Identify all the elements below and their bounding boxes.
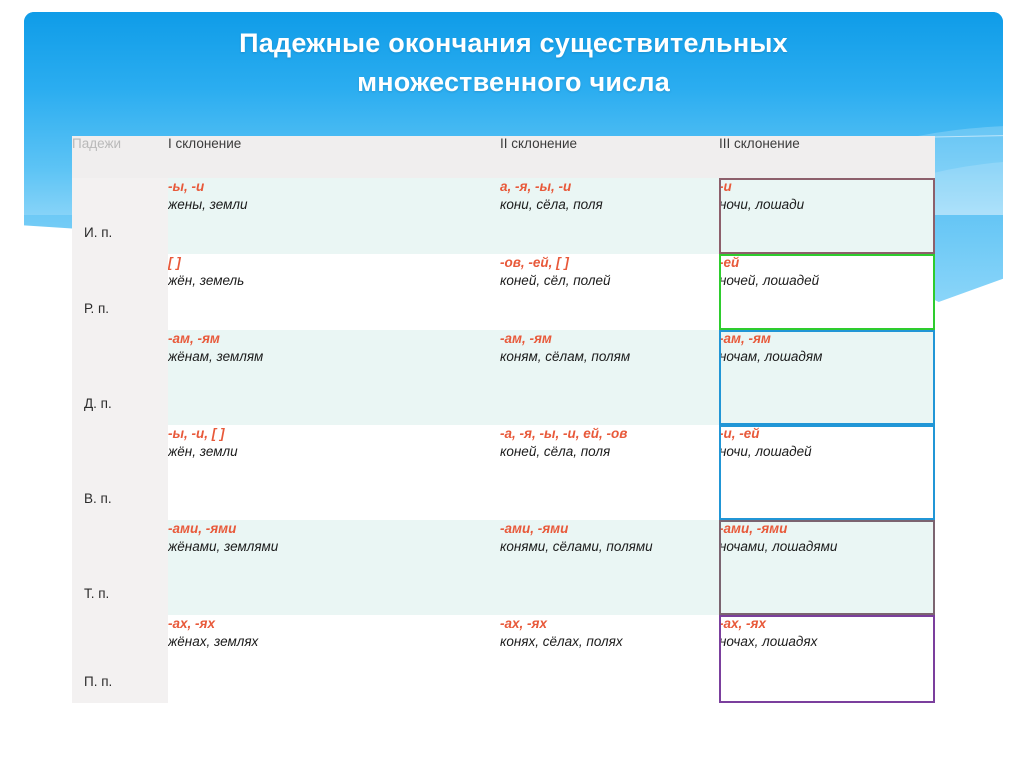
declension-cell: -ы, -ижены, земли <box>168 178 500 254</box>
declension-cell: -ами, -яминочами, лошадями <box>719 520 935 615</box>
ending-text: -ами, -ями <box>168 520 500 537</box>
case-label: В. п. <box>84 491 112 506</box>
example-text: ночи, лошади <box>719 196 935 214</box>
case-label-cell: Д. п. <box>72 330 168 425</box>
example-text: коням, сёлам, полям <box>500 348 719 366</box>
ending-text: -и, -ей <box>719 425 935 442</box>
ending-text: а, -я, -ы, -и <box>500 178 719 195</box>
table-row: П. п.-ах, -яхжёнах, землях-ах, -яхконях,… <box>72 615 935 703</box>
example-text: кони, сёла, поля <box>500 196 719 214</box>
ending-text: -ей <box>719 254 935 271</box>
page-title: Падежные окончания существительных множе… <box>24 24 1003 102</box>
column-header-3: III склонение <box>719 136 935 178</box>
case-label: Р. п. <box>84 301 109 316</box>
ending-text: [ ] <box>168 254 500 271</box>
example-text: конями, сёлами, полями <box>500 538 719 556</box>
example-text: ночи, лошадей <box>719 443 935 461</box>
declension-cell: -ах, -яхконях, сёлах, полях <box>500 615 719 703</box>
column-header-0: Падежи <box>72 136 168 178</box>
ending-text: -ах, -ях <box>719 615 935 632</box>
example-text: конях, сёлах, полях <box>500 633 719 651</box>
ending-text: -а, -я, -ы, -и, ей, -ов <box>500 425 719 442</box>
case-label-cell: П. п. <box>72 615 168 703</box>
declension-cell: -ейночей, лошадей <box>719 254 935 330</box>
case-label-cell: В. п. <box>72 425 168 520</box>
declension-cell: -иночи, лошади <box>719 178 935 254</box>
ending-text: -ам, -ям <box>500 330 719 347</box>
declension-cell: -ами, -ямиконями, сёлами, полями <box>500 520 719 615</box>
example-text: ночей, лошадей <box>719 272 935 290</box>
ending-text: -ам, -ям <box>168 330 500 347</box>
case-label-cell: Р. п. <box>72 254 168 330</box>
ending-text: -и <box>719 178 935 195</box>
example-text: коней, сёл, полей <box>500 272 719 290</box>
declension-cell: -ах, -яхночах, лошадях <box>719 615 935 703</box>
example-text: жён, земель <box>168 272 500 290</box>
declension-cell: -ами, -ямижёнами, землями <box>168 520 500 615</box>
case-label: И. п. <box>84 225 112 240</box>
table-header-row: ПадежиI склонениеII склонениеIII склонен… <box>72 136 935 178</box>
declension-cell: [ ]жён, земель <box>168 254 500 330</box>
ending-text: -ах, -ях <box>168 615 500 632</box>
declension-cell: -и, -ейночи, лошадей <box>719 425 935 520</box>
declension-cell: -ов, -ей, [ ]коней, сёл, полей <box>500 254 719 330</box>
example-text: жёнам, землям <box>168 348 500 366</box>
example-text: ночами, лошадями <box>719 538 935 556</box>
declension-cell: -ам, -ямконям, сёлам, полям <box>500 330 719 425</box>
table-row: Д. п.-ам, -ямжёнам, землям-ам, -ямконям,… <box>72 330 935 425</box>
ending-text: -ов, -ей, [ ] <box>500 254 719 271</box>
ending-text: -ы, -и, [ ] <box>168 425 500 442</box>
ending-text: -ы, -и <box>168 178 500 195</box>
example-text: жёнами, землями <box>168 538 500 556</box>
declension-cell: -ах, -яхжёнах, землях <box>168 615 500 703</box>
case-label: П. п. <box>84 674 112 689</box>
declension-cell: -ы, -и, [ ]жён, земли <box>168 425 500 520</box>
table-row: Р. п.[ ]жён, земель-ов, -ей, [ ]коней, с… <box>72 254 935 330</box>
declension-endings-table: ПадежиI склонениеII склонениеIII склонен… <box>72 136 935 703</box>
column-header-1: I склонение <box>168 136 500 178</box>
declension-cell: -ам, -ямночам, лошадям <box>719 330 935 425</box>
ending-text: -ам, -ям <box>719 330 935 347</box>
declension-cell: -а, -я, -ы, -и, ей, -овконей, сёла, поля <box>500 425 719 520</box>
example-text: жёнах, землях <box>168 633 500 651</box>
ending-text: -ах, -ях <box>500 615 719 632</box>
case-label: Т. п. <box>84 586 109 601</box>
table-row: И. п.-ы, -ижены, землиа, -я, -ы, -икони,… <box>72 178 935 254</box>
table-row: Т. п.-ами, -ямижёнами, землями-ами, -ями… <box>72 520 935 615</box>
example-text: ночам, лошадям <box>719 348 935 366</box>
example-text: коней, сёла, поля <box>500 443 719 461</box>
column-header-2: II склонение <box>500 136 719 178</box>
page-title-line-1: Падежные окончания существительных <box>239 28 788 58</box>
case-label-cell: Т. п. <box>72 520 168 615</box>
case-label-cell: И. п. <box>72 178 168 254</box>
declension-cell: а, -я, -ы, -икони, сёла, поля <box>500 178 719 254</box>
ending-text: -ами, -ями <box>500 520 719 537</box>
page-title-line-2: множественного числа <box>24 63 1003 102</box>
declension-cell: -ам, -ямжёнам, землям <box>168 330 500 425</box>
example-text: ночах, лошадях <box>719 633 935 651</box>
ending-text: -ами, -ями <box>719 520 935 537</box>
case-label: Д. п. <box>84 396 112 411</box>
example-text: жены, земли <box>168 196 500 214</box>
example-text: жён, земли <box>168 443 500 461</box>
table-row: В. п.-ы, -и, [ ]жён, земли-а, -я, -ы, -и… <box>72 425 935 520</box>
